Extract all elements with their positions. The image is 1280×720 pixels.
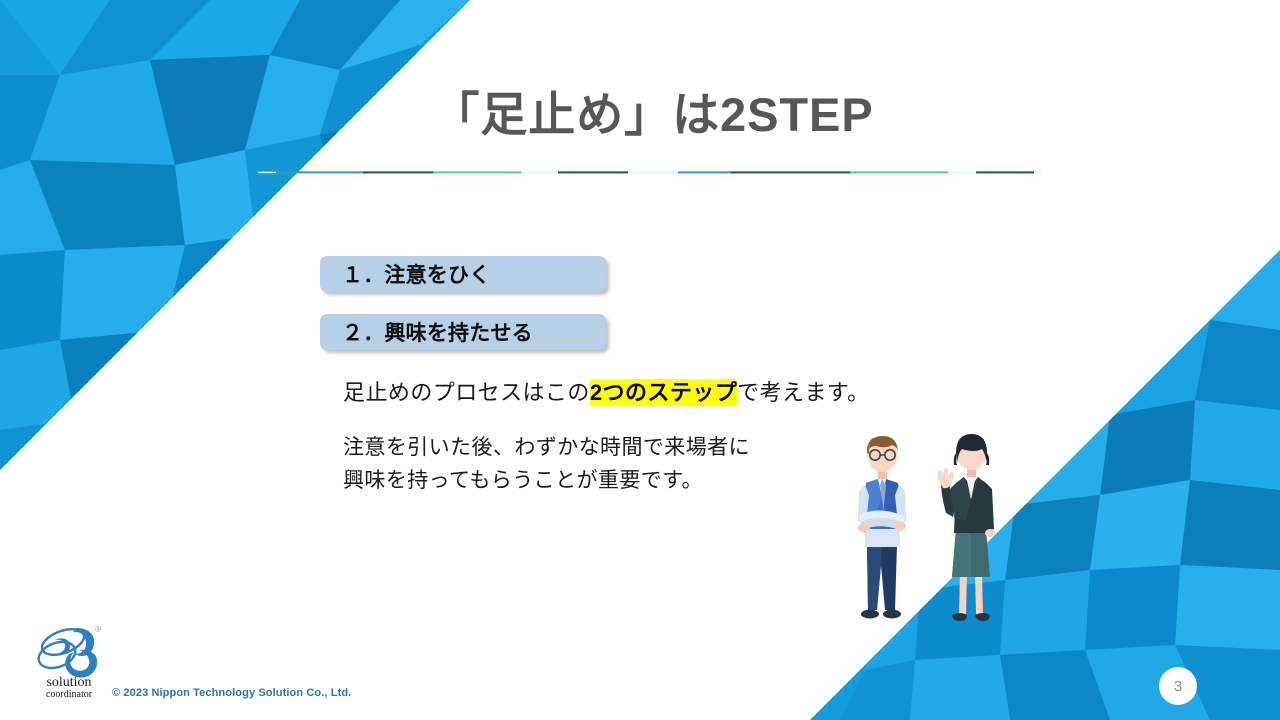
lead-prefix-text: 足止めのプロセスはこの — [343, 380, 590, 405]
copyright-text: © 2023 Nippon Technology Solution Co., L… — [112, 687, 351, 699]
step-box-2[interactable]: ２．興味を持たせる — [320, 314, 606, 350]
page-title: 「足止め」は2STEP — [258, 88, 1048, 142]
step-1-label: １．注意をひく — [342, 259, 490, 289]
slide-canvas: 「足止め」は2STEP １．注意をひく ２．興味を持たせる 足止めのプロセスはこ… — [0, 0, 1280, 720]
step-box-1[interactable]: １．注意をひく — [320, 256, 606, 292]
registered-mark-text: ® — [95, 625, 101, 634]
logo-name-line1: solution — [46, 675, 91, 690]
solution-coordinator-logo: ® solution coordinator — [33, 620, 105, 700]
two-business-people-illustration — [845, 425, 1030, 640]
lead-highlight-text: 2つのステップ — [590, 379, 737, 406]
lead-paragraph: 足止めのプロセスはこの2つのステップで考えます。 — [343, 375, 870, 407]
page-title-block: 「足止め」は2STEP — [258, 88, 1048, 142]
logo-name-line2: coordinator — [46, 689, 93, 700]
lead-suffix-text: で考えます。 — [737, 380, 869, 405]
step-2-label: ２．興味を持たせる — [342, 317, 533, 347]
page-number: 3 — [1174, 678, 1182, 695]
detail-paragraph: 注意を引いた後、わずかな時間で来場者に 興味を持ってもらうことが重要です。 — [343, 432, 750, 497]
page-number-badge: 3 — [1159, 667, 1197, 705]
title-divider-rule — [258, 170, 1042, 175]
